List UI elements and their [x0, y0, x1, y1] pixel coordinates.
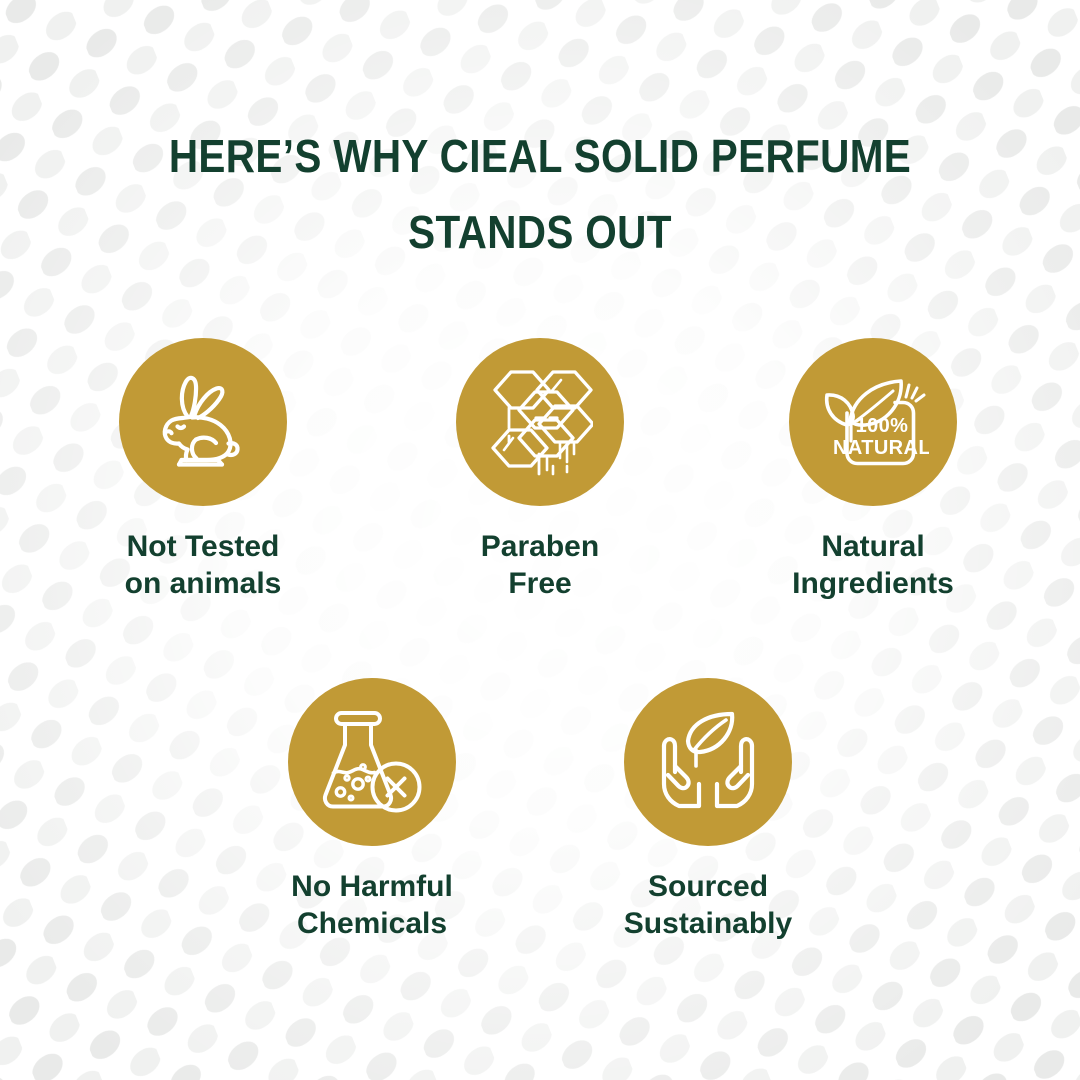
page-title-line-1: HERE’S WHY CIEAL SOLID PERFUME — [65, 118, 1015, 194]
natural-badge-natural-text: NATURAL — [833, 437, 929, 459]
badge-natural-ingredients: 100% NATURAL Natural Ingredients — [756, 338, 990, 602]
badge-no-harmful-chemicals: No Harmful Chemicals — [255, 678, 489, 942]
rabbit-icon — [150, 369, 256, 475]
badge-sourced-sustainably-label: Sourced Sustainably — [591, 868, 825, 942]
badge-paraben-free-label: Paraben Free — [423, 528, 657, 602]
infographic-canvas: HERE’S WHY CIEAL SOLID PERFUME STANDS OU… — [0, 0, 1080, 1080]
badge-paraben-free: Paraben Free — [423, 338, 657, 602]
badge-cruelty-free-label: Not Tested on animals — [86, 528, 320, 602]
hundred-percent-natural-leaf-icon: 100% NATURAL — [817, 369, 929, 475]
badge-natural-ingredients-circle: 100% NATURAL — [789, 338, 957, 506]
badge-no-harmful-chemicals-circle — [288, 678, 456, 846]
flask-no-chemicals-icon — [318, 707, 426, 817]
badge-cruelty-free: Not Tested on animals — [86, 338, 320, 602]
hands-holding-leaf-icon — [654, 710, 762, 814]
page-title: HERE’S WHY CIEAL SOLID PERFUME STANDS OU… — [0, 118, 1080, 270]
natural-badge-percent-text: 100% — [856, 415, 909, 437]
page-title-line-2: STANDS OUT — [65, 194, 1015, 270]
badge-sourced-sustainably: Sourced Sustainably — [591, 678, 825, 942]
badge-cruelty-free-circle — [119, 338, 287, 506]
badge-natural-ingredients-label: Natural Ingredients — [756, 528, 990, 602]
badge-no-harmful-chemicals-label: No Harmful Chemicals — [255, 868, 489, 942]
badge-sourced-sustainably-circle — [624, 678, 792, 846]
badge-paraben-free-circle — [456, 338, 624, 506]
honeycomb-icon — [487, 366, 593, 478]
